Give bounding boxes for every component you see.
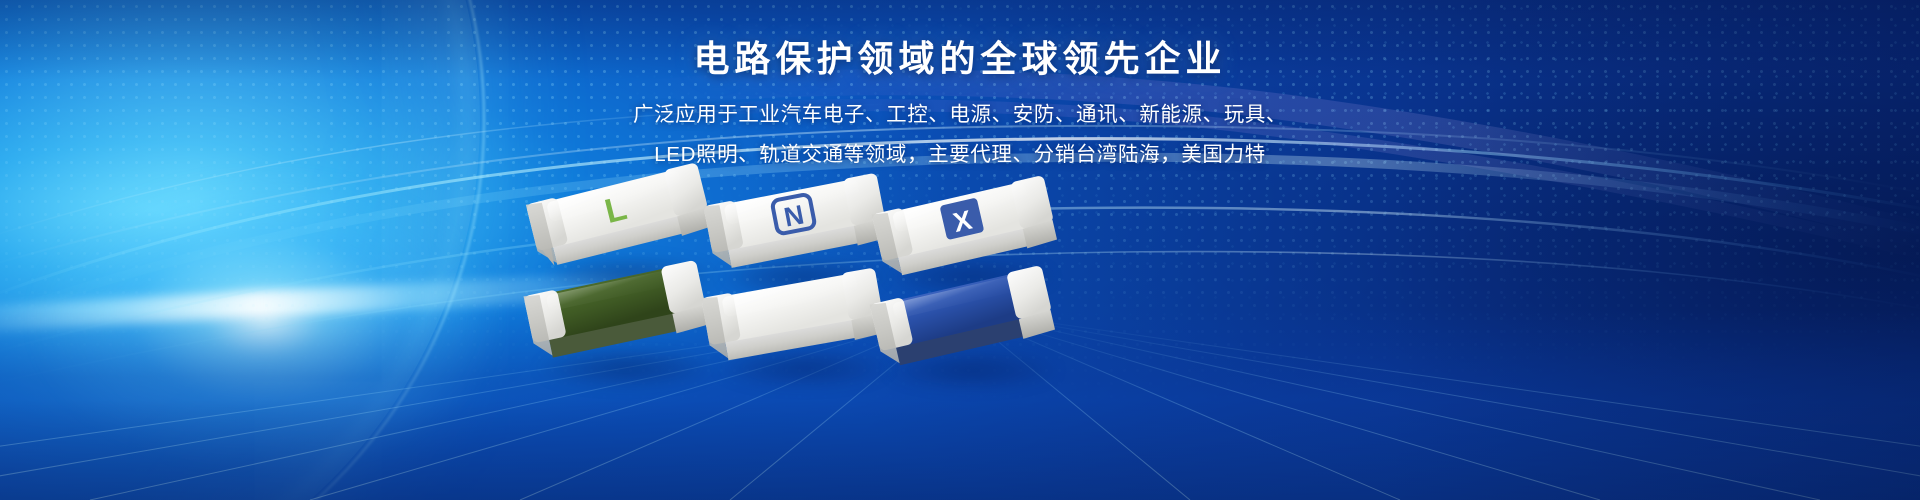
smd-fuse-green-face bbox=[524, 260, 710, 363]
product-components: L N bbox=[0, 0, 1920, 500]
smd-fuse-blue-face bbox=[870, 265, 1057, 371]
smd-fuse-l: L bbox=[514, 162, 713, 273]
smd-fuse-x: X bbox=[872, 175, 1059, 281]
hero-banner: 电路保护领域的全球领先企业 广泛应用于工业汽车电子、工控、电源、安防、通讯、新能… bbox=[0, 0, 1920, 500]
smd-fuse-plain bbox=[701, 267, 886, 365]
smd-fuse-n: N bbox=[703, 173, 889, 273]
